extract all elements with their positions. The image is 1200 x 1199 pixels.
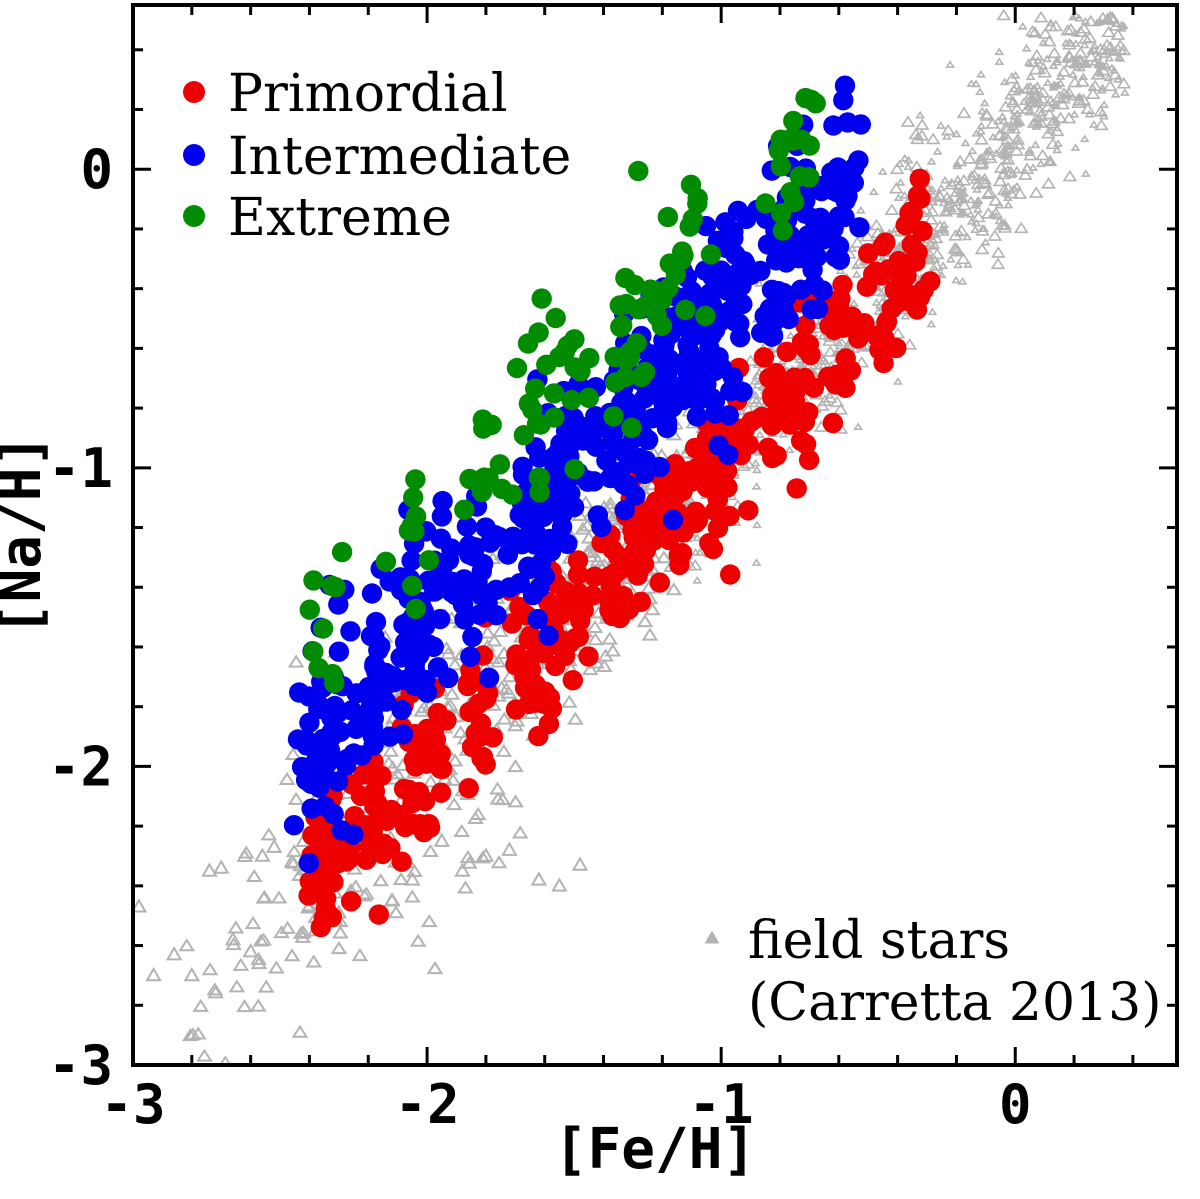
- data-point-marker: [486, 605, 506, 625]
- data-point-marker: [688, 188, 708, 208]
- field-star-marker: [1086, 111, 1093, 116]
- field-star-marker: [563, 697, 576, 707]
- y-tick-label: -2: [48, 735, 113, 798]
- data-point-marker: [406, 599, 426, 619]
- field-star-marker: [999, 114, 1006, 119]
- data-point-marker: [732, 294, 752, 314]
- data-point-marker: [431, 783, 451, 803]
- data-point-marker: [857, 277, 877, 297]
- field-star-marker: [459, 882, 472, 892]
- plot-canvas: -3-2-100-1-2-3[Fe/H][Na/H]PrimordialInte…: [0, 0, 1200, 1199]
- field-star-marker: [262, 829, 275, 839]
- data-point-marker: [650, 572, 670, 592]
- y-tick-label: -3: [48, 1034, 113, 1097]
- data-point-marker: [615, 268, 635, 288]
- data-point-marker: [703, 356, 723, 376]
- field-star-marker: [857, 207, 864, 212]
- y-axis-label: [Na/H]: [0, 434, 54, 636]
- data-point-marker: [638, 430, 658, 450]
- data-point-marker: [432, 491, 452, 511]
- data-point-marker: [701, 244, 721, 264]
- field-star-marker: [1027, 74, 1034, 79]
- data-point-marker: [490, 454, 510, 474]
- field-star-marker: [180, 940, 193, 950]
- data-point-marker: [800, 135, 820, 155]
- data-point-marker: [657, 418, 677, 438]
- field-star-marker: [491, 783, 504, 793]
- data-point-marker: [380, 838, 400, 858]
- data-point-marker: [579, 348, 599, 368]
- field-star-marker: [389, 907, 402, 917]
- field-star-marker: [896, 161, 903, 166]
- data-point-marker: [454, 500, 474, 520]
- field-star-marker: [1043, 179, 1055, 188]
- data-point-marker: [549, 496, 569, 516]
- legend-marker-field-stars: [705, 931, 720, 944]
- data-point-marker: [886, 338, 906, 358]
- field-star-marker: [198, 1050, 211, 1060]
- field-star-marker: [268, 841, 281, 852]
- data-point-marker: [402, 576, 422, 596]
- data-point-marker: [539, 714, 559, 734]
- data-point-marker: [695, 306, 715, 326]
- data-point-marker: [498, 544, 518, 564]
- data-point-marker: [492, 479, 512, 499]
- data-point-marker: [615, 367, 635, 387]
- data-point-marker: [538, 625, 558, 645]
- data-point-marker: [750, 261, 770, 281]
- field-star-marker: [147, 969, 160, 980]
- data-point-marker: [755, 193, 775, 213]
- legend-label-primordial: Primordial: [228, 64, 508, 124]
- x-tick-label: -2: [395, 1073, 460, 1136]
- data-point-marker: [471, 748, 491, 768]
- data-point-marker: [314, 908, 334, 928]
- field-star-marker: [929, 309, 936, 314]
- field-star-marker: [288, 846, 301, 856]
- field-star-marker: [978, 123, 985, 128]
- field-star-marker: [998, 10, 1010, 19]
- field-star-marker: [1099, 110, 1106, 115]
- data-point-marker: [599, 600, 619, 620]
- data-point-marker: [776, 287, 796, 307]
- field-star-marker: [1023, 45, 1030, 50]
- field-star-marker: [203, 864, 216, 875]
- field-star-marker: [493, 857, 506, 867]
- field-star-marker: [1019, 170, 1031, 179]
- field-star-marker: [1081, 136, 1088, 141]
- field-star-marker: [901, 156, 908, 161]
- field-star-marker: [1055, 141, 1062, 146]
- data-point-marker: [460, 647, 480, 667]
- data-point-marker: [680, 216, 700, 236]
- field-star-marker: [938, 123, 945, 128]
- field-star-marker: [509, 796, 522, 806]
- field-star-marker: [968, 81, 975, 86]
- data-point-marker: [652, 289, 672, 309]
- data-point-marker: [317, 750, 337, 770]
- data-point-marker: [910, 188, 930, 208]
- data-point-marker: [663, 510, 683, 530]
- field-star-marker: [958, 108, 970, 117]
- field-star-marker: [272, 892, 285, 902]
- data-point-marker: [735, 420, 755, 440]
- data-point-marker: [473, 409, 493, 429]
- field-star-marker: [905, 164, 912, 169]
- field-star-marker: [1015, 223, 1027, 232]
- field-star-marker: [574, 858, 587, 869]
- data-point-marker: [836, 348, 856, 368]
- data-point-marker: [669, 545, 689, 565]
- field-star-marker: [503, 844, 516, 855]
- field-star-marker: [509, 761, 522, 771]
- data-point-marker: [635, 362, 655, 382]
- field-star-marker: [435, 835, 448, 846]
- data-point-marker: [343, 825, 363, 845]
- data-point-marker: [366, 662, 386, 682]
- data-point-marker: [851, 114, 871, 134]
- data-point-marker: [465, 471, 485, 491]
- field-star-marker: [917, 112, 924, 117]
- data-point-marker: [315, 796, 335, 816]
- data-point-marker: [833, 90, 853, 110]
- scatter-plot-figure: -3-2-100-1-2-3[Fe/H][Na/H]PrimordialInte…: [0, 0, 1200, 1199]
- legend-label-extreme: Extreme: [228, 188, 452, 248]
- field-star-marker: [334, 927, 347, 937]
- data-point-marker: [399, 618, 419, 638]
- data-point-marker: [554, 344, 574, 364]
- field-star-marker: [270, 962, 283, 972]
- data-point-marker: [619, 599, 639, 619]
- data-point-marker: [705, 403, 725, 423]
- field-star-marker: [332, 943, 345, 953]
- data-point-marker: [313, 618, 333, 638]
- field-star-marker: [1073, 41, 1080, 46]
- field-star-marker: [962, 140, 969, 145]
- data-point-marker: [499, 577, 519, 597]
- data-point-marker: [714, 264, 734, 284]
- data-point-marker: [462, 627, 482, 647]
- data-point-marker: [826, 374, 846, 394]
- data-point-marker: [458, 676, 478, 696]
- data-point-marker: [628, 161, 648, 181]
- data-point-marker: [824, 320, 844, 340]
- data-point-marker: [316, 888, 336, 908]
- field-star-marker: [1044, 80, 1051, 85]
- data-point-marker: [518, 333, 538, 353]
- data-point-marker: [515, 678, 535, 698]
- y-tick-label: -1: [48, 437, 113, 500]
- data-point-marker: [390, 647, 410, 667]
- field-star-marker: [972, 227, 979, 232]
- data-point-marker: [799, 167, 819, 187]
- field-star-marker: [1070, 72, 1077, 77]
- clip-right: [1177, 0, 1200, 1199]
- legend-marker-extreme: [183, 205, 205, 227]
- field-star-marker: [947, 62, 954, 67]
- data-point-marker: [299, 853, 319, 873]
- data-point-marker: [650, 457, 670, 477]
- data-point-marker: [591, 517, 611, 537]
- field-star-marker: [448, 659, 461, 669]
- data-point-marker: [453, 594, 473, 614]
- data-point-marker: [738, 500, 758, 520]
- data-point-marker: [796, 434, 816, 454]
- legend-marker-primordial: [183, 81, 205, 103]
- data-point-marker: [525, 378, 545, 398]
- field-star-marker: [996, 49, 1003, 54]
- field-star-marker: [281, 774, 294, 784]
- data-point-marker: [910, 169, 930, 189]
- data-point-marker: [835, 190, 855, 210]
- field-star-marker: [307, 956, 320, 966]
- data-point-marker: [808, 299, 828, 319]
- data-point-marker: [479, 668, 499, 688]
- x-tick-label: 0: [999, 1073, 1032, 1136]
- data-point-marker: [360, 837, 380, 857]
- field-star-marker: [1101, 102, 1108, 107]
- field-star-marker: [497, 746, 510, 756]
- field-star-marker: [871, 220, 883, 229]
- data-point-marker: [612, 315, 632, 335]
- data-point-marker: [621, 418, 641, 438]
- field-star-marker: [1013, 167, 1020, 172]
- data-point-marker: [362, 583, 382, 603]
- data-point-marker: [564, 459, 584, 479]
- data-point-marker: [417, 719, 437, 739]
- field-star-marker: [959, 279, 966, 284]
- data-point-marker: [557, 534, 577, 554]
- field-star-marker: [886, 205, 898, 214]
- data-point-marker: [303, 570, 323, 590]
- data-point-marker: [832, 275, 852, 295]
- field-star-marker: [786, 447, 793, 452]
- field-star-marker: [967, 212, 974, 217]
- data-point-marker: [720, 564, 740, 584]
- field-star-marker: [247, 918, 260, 928]
- data-point-marker: [802, 260, 822, 280]
- field-star-marker: [1019, 24, 1026, 29]
- data-point-marker: [603, 406, 623, 426]
- data-point-marker: [414, 822, 434, 842]
- data-point-marker: [718, 445, 738, 465]
- field-star-marker: [982, 239, 989, 244]
- field-star-marker: [1012, 72, 1019, 77]
- data-point-marker: [472, 561, 492, 581]
- data-point-marker: [371, 766, 391, 786]
- data-point-marker: [402, 516, 422, 536]
- data-point-marker: [825, 247, 845, 267]
- field-star-marker: [1021, 99, 1028, 104]
- data-point-marker: [814, 229, 834, 249]
- field-star-marker: [927, 134, 939, 143]
- data-point-marker: [771, 156, 791, 176]
- field-star-marker: [290, 794, 303, 804]
- data-point-marker: [574, 420, 594, 440]
- data-point-marker: [403, 487, 423, 507]
- field-star-marker: [406, 891, 419, 901]
- data-point-marker: [341, 891, 361, 911]
- field-star-marker: [1071, 112, 1078, 117]
- data-point-marker: [634, 554, 654, 574]
- field-star-marker: [981, 100, 988, 105]
- field-star-marker: [569, 714, 582, 724]
- data-point-marker: [783, 406, 803, 426]
- field-star-marker: [353, 950, 366, 960]
- field-star-marker: [940, 263, 947, 268]
- data-point-marker: [672, 241, 692, 261]
- field-star-marker: [895, 379, 902, 384]
- data-point-marker: [570, 611, 590, 631]
- field-star-marker: [532, 873, 545, 884]
- data-point-marker: [890, 275, 910, 295]
- data-point-marker: [759, 368, 779, 388]
- field-star-marker: [286, 950, 299, 960]
- data-point-marker: [505, 655, 525, 675]
- field-star-marker: [423, 916, 436, 926]
- field-star-marker: [953, 277, 960, 282]
- field-star-marker: [1030, 188, 1042, 197]
- field-star-marker: [879, 169, 886, 174]
- data-point-marker: [429, 744, 449, 764]
- data-point-marker: [459, 778, 479, 798]
- data-point-marker: [544, 407, 564, 427]
- field-star-marker: [293, 1027, 306, 1037]
- field-star-marker: [1103, 27, 1115, 36]
- data-point-marker: [332, 542, 352, 562]
- data-point-marker: [412, 675, 432, 695]
- field-star-marker: [1090, 122, 1097, 127]
- field-star-marker: [996, 59, 1003, 64]
- field-star-marker: [931, 249, 943, 258]
- data-point-marker: [303, 641, 323, 661]
- data-point-marker: [773, 220, 793, 240]
- data-point-marker: [351, 745, 371, 765]
- field-star-marker: [978, 71, 985, 76]
- x-axis-label: [Fe/H]: [554, 1117, 756, 1182]
- data-point-marker: [362, 816, 382, 836]
- field-star-marker: [855, 424, 862, 429]
- field-star-marker: [1072, 145, 1079, 150]
- data-point-marker: [782, 128, 802, 148]
- field-star-marker: [1037, 150, 1049, 159]
- field-star-marker: [873, 300, 880, 305]
- field-star-marker: [553, 879, 566, 890]
- data-point-marker: [367, 793, 387, 813]
- data-point-marker: [544, 383, 564, 403]
- data-point-marker: [391, 700, 411, 720]
- data-point-marker: [801, 90, 821, 110]
- field-star-marker: [897, 180, 904, 185]
- data-point-marker: [657, 364, 677, 384]
- data-point-marker: [419, 550, 439, 570]
- field-star-marker: [238, 1001, 251, 1011]
- field-star-marker: [964, 154, 976, 163]
- legend-main: PrimordialIntermediateExtreme: [183, 64, 571, 248]
- legend-field-stars: field stars(Carretta 2013): [705, 911, 1162, 1033]
- field-star-marker: [928, 321, 935, 326]
- legend-sublabel-field-stars: (Carretta 2013): [748, 973, 1162, 1033]
- field-star-marker: [1030, 165, 1037, 170]
- field-star-marker: [1049, 48, 1061, 57]
- field-star-marker: [1095, 120, 1107, 129]
- data-point-marker: [529, 578, 549, 598]
- field-star-marker: [928, 159, 935, 164]
- field-star-marker: [1032, 142, 1039, 147]
- field-star-marker: [753, 483, 760, 488]
- data-point-marker: [329, 642, 349, 662]
- field-star-marker: [230, 981, 243, 991]
- field-star-marker: [954, 176, 961, 181]
- field-star-marker: [229, 922, 242, 932]
- field-star-marker: [424, 846, 437, 856]
- data-point-marker: [364, 627, 384, 647]
- field-star-marker: [977, 128, 984, 133]
- field-star-marker: [638, 616, 651, 626]
- field-star-marker: [603, 633, 616, 643]
- field-star-marker: [204, 964, 217, 974]
- data-point-marker: [823, 115, 843, 135]
- data-point-marker: [330, 722, 350, 742]
- data-point-marker: [666, 265, 686, 285]
- field-star-marker: [992, 259, 1004, 268]
- field-star-marker: [1014, 183, 1021, 188]
- data-point-marker: [312, 871, 332, 891]
- data-point-marker: [620, 347, 640, 367]
- field-star-marker: [374, 875, 387, 885]
- data-point-marker: [459, 702, 479, 722]
- data-point-marker: [844, 157, 864, 177]
- field-star-marker: [244, 945, 257, 956]
- field-star-marker: [290, 656, 303, 666]
- legend-marker-intermediate: [183, 144, 205, 166]
- data-point-marker: [503, 527, 523, 547]
- data-point-marker: [823, 413, 843, 433]
- field-star-marker: [643, 629, 656, 639]
- field-star-marker: [934, 149, 941, 154]
- data-point-marker: [507, 358, 527, 378]
- data-point-marker: [658, 207, 678, 227]
- data-point-marker: [532, 288, 552, 308]
- y-tick-label: 0: [80, 138, 113, 201]
- data-point-marker: [546, 308, 566, 328]
- data-point-marker: [732, 382, 752, 402]
- field-star-marker: [456, 864, 469, 875]
- data-point-marker: [787, 478, 807, 498]
- data-point-marker: [652, 316, 672, 336]
- field-star-marker: [1122, 90, 1129, 95]
- field-star-marker: [992, 248, 1004, 257]
- field-star-marker: [185, 969, 198, 980]
- field-star-marker: [252, 1000, 265, 1010]
- data-point-marker: [409, 782, 429, 802]
- legend-label-intermediate: Intermediate: [228, 127, 571, 187]
- field-star-marker: [514, 827, 527, 837]
- field-star-marker: [1035, 12, 1047, 21]
- data-point-marker: [393, 724, 413, 744]
- data-point-marker: [428, 657, 448, 677]
- field-star-marker: [1112, 91, 1119, 96]
- field-star-marker: [968, 197, 975, 202]
- data-point-marker: [340, 621, 360, 641]
- data-point-marker: [530, 482, 550, 502]
- data-point-marker: [376, 552, 396, 572]
- field-star-marker: [853, 272, 860, 277]
- data-point-marker: [910, 287, 930, 307]
- field-star-marker: [168, 948, 181, 959]
- data-point-marker: [827, 168, 847, 188]
- field-star-marker: [215, 861, 228, 872]
